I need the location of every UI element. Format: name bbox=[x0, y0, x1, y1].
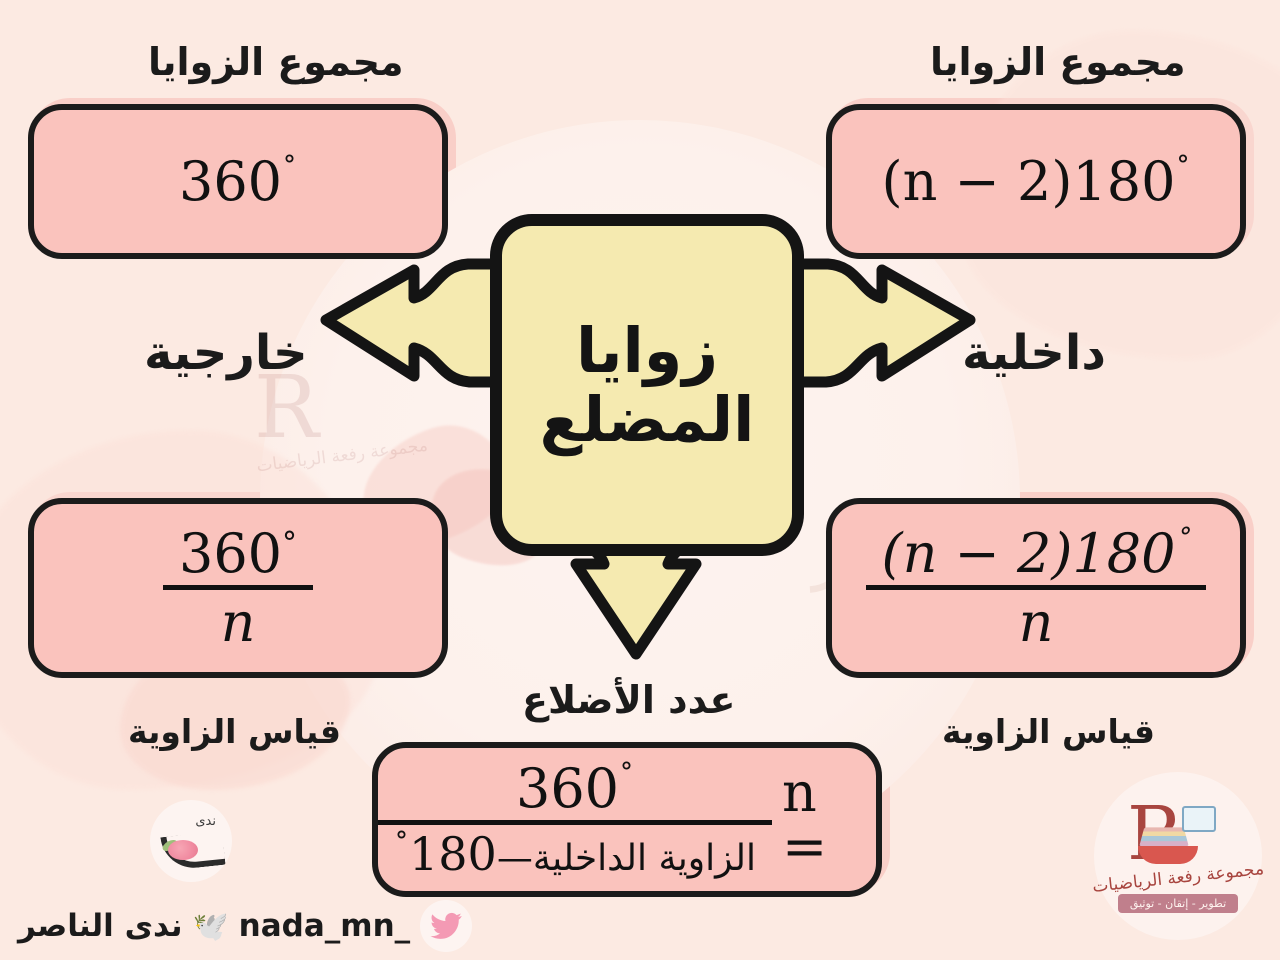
author-avatar-name: ندى bbox=[195, 814, 216, 829]
twitter-icon[interactable] bbox=[420, 900, 472, 952]
exterior-sum-card: 360˚ bbox=[28, 104, 448, 259]
interior-measure-card: (n − 2)180˚ n bbox=[826, 498, 1246, 678]
interior-sum-formula: (n − 2)180˚ bbox=[882, 155, 1191, 209]
sides-formula-card: n = 360˚ الزاوية الداخلية—180˚ bbox=[372, 742, 882, 897]
exterior-sum-formula: 360˚ bbox=[179, 155, 297, 209]
exterior-sum-caption: مجموع الزوايا bbox=[148, 40, 404, 84]
brand-logo: R مجموعة رفعة الرياضيات تطوير - إتقان - … bbox=[1094, 772, 1262, 940]
interior-measure-denominator: n bbox=[866, 585, 1207, 650]
interior-measure-formula: (n − 2)180˚ n bbox=[866, 527, 1207, 650]
interior-sum-card: (n − 2)180˚ bbox=[826, 104, 1246, 259]
sides-formula-denominator: الزاوية الداخلية—180˚ bbox=[378, 820, 772, 877]
interior-sum-caption: مجموع الزوايا bbox=[930, 40, 1186, 84]
central-node-title-line1: زوايا bbox=[576, 316, 718, 385]
sides-formula-fraction: 360˚ الزاوية الداخلية—180˚ bbox=[378, 762, 772, 877]
exterior-measure-numerator: 360° bbox=[163, 527, 313, 585]
brand-logo-icons bbox=[1124, 802, 1210, 864]
branch-label-exterior: خارجية bbox=[144, 325, 308, 381]
author-handle[interactable]: nada_mn_ bbox=[239, 908, 410, 944]
exterior-measure-card: 360° n bbox=[28, 498, 448, 678]
interior-measure-caption: قياس الزاوية bbox=[942, 712, 1155, 751]
brand-badge: تطوير - إتقان - توثيق bbox=[1118, 894, 1238, 913]
sides-caption: عدد الأضلاع bbox=[522, 678, 736, 722]
hand-icon bbox=[1138, 846, 1198, 864]
sides-formula-numerator: 360˚ bbox=[500, 762, 650, 820]
dove-icon: 🕊️ bbox=[193, 909, 229, 944]
branch-label-interior: داخلية bbox=[962, 325, 1106, 381]
author-avatar: ندى bbox=[150, 800, 232, 882]
laptop-icon bbox=[1182, 806, 1216, 832]
author-name: ندى الناصر bbox=[18, 908, 183, 944]
exterior-measure-caption: قياس الزاوية bbox=[128, 712, 341, 751]
exterior-measure-formula: 360° n bbox=[163, 527, 313, 650]
interior-measure-numerator: (n − 2)180˚ bbox=[866, 527, 1207, 585]
exterior-measure-denominator: n bbox=[163, 585, 313, 650]
central-node-title-line2: المضلع bbox=[540, 385, 755, 454]
central-node: زوايا المضلع bbox=[490, 214, 804, 556]
flower-icon bbox=[168, 840, 198, 860]
sides-formula-lhs: n = bbox=[782, 766, 876, 874]
author-credit: nada_mn_ 🕊️ ندى الناصر bbox=[18, 900, 472, 952]
